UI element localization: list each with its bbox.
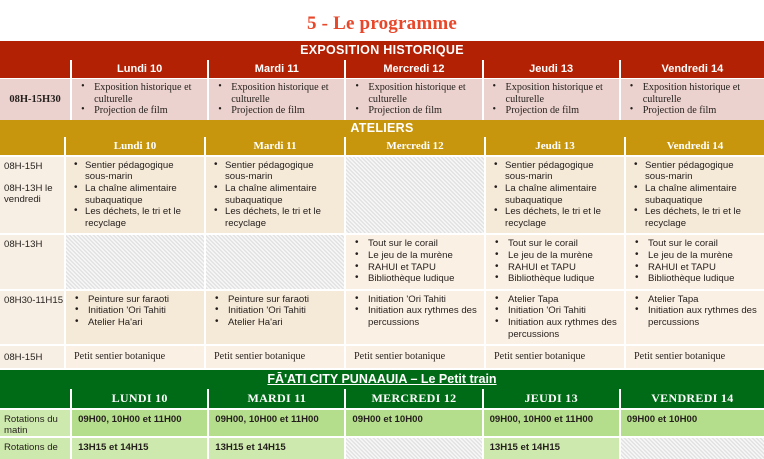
faati-aprem-mardi: 13H15 et 14H15	[208, 437, 345, 459]
list-item: Atelier Ha'ari	[226, 317, 338, 329]
exposition-corner-cell	[0, 60, 71, 79]
list-item: Le jeu de la murène	[646, 250, 758, 262]
ateliers-table: ATELIERS Lundi 10 Mardi 11 Mercredi 12 J…	[0, 120, 764, 370]
exposition-day-vendredi: Vendredi 14	[620, 60, 764, 79]
list-item: Les déchets, le tri et le recyclage	[643, 206, 758, 229]
ateliers-row1-jeudi: Sentier pédagogique sous-marin La chaîne…	[485, 156, 625, 235]
list-item: Sentier pédagogique sous-marin	[503, 160, 618, 183]
list-item: Tout sur le corail	[646, 238, 758, 250]
list-item: Bibliothèque ludique	[646, 273, 758, 285]
ateliers-day-mardi: Mardi 11	[205, 137, 345, 156]
ateliers-row-2: 08H-13H Tout sur le corail Le jeu de la …	[0, 234, 764, 289]
ateliers-row1-time-main: 08H-15H	[4, 161, 42, 172]
list-item: Initiation aux rythmes des percussions	[506, 317, 618, 340]
list-item: Exposition historique et culturelle	[229, 82, 340, 105]
ateliers-corner-cell	[0, 137, 65, 156]
list-item: Le jeu de la murène	[366, 250, 478, 262]
faati-matin-mardi: 09H00, 10H00 et 11H00	[208, 409, 345, 437]
ateliers-row1-vendredi: Sentier pédagogique sous-marin La chaîne…	[625, 156, 764, 235]
list-item: La chaîne alimentaire subaquatique	[223, 183, 338, 206]
faati-day-lundi: LUNDI 10	[71, 389, 208, 409]
exposition-row: 08H-15H30 Exposition historique et cultu…	[0, 79, 764, 120]
list-item: Initiation 'Ori Tahiti	[226, 305, 338, 317]
list-item: Projection de film	[504, 105, 615, 117]
ateliers-row2-mardi-empty	[205, 234, 345, 289]
exposition-time-label: 08H-15H30	[0, 79, 71, 120]
list-item: Atelier Ha'ari	[86, 317, 198, 329]
ateliers-row4-jeudi: Petit sentier botanique	[485, 345, 625, 369]
exposition-cell-mercredi: Exposition historique et culturelle Proj…	[345, 79, 482, 120]
ateliers-row2-lundi-empty	[65, 234, 205, 289]
exposition-table: EXPOSITION HISTORIQUE Lundi 10 Mardi 11 …	[0, 41, 764, 120]
list-item: Projection de film	[229, 105, 340, 117]
faati-row-aprem: Rotations de 13H15 et 14H15 13H15 et 14H…	[0, 437, 764, 459]
ateliers-row4-lundi: Petit sentier botanique	[65, 345, 205, 369]
list-item: RAHUI et TAPU	[646, 262, 758, 274]
list-item: Sentier pédagogique sous-marin	[83, 160, 198, 183]
ateliers-row4-mercredi: Petit sentier botanique	[345, 345, 485, 369]
faati-row-matin-label: Rotations du matin	[0, 409, 71, 437]
faati-matin-mercredi: 09H00 et 10H00	[345, 409, 482, 437]
list-item: Les déchets, le tri et le recyclage	[223, 206, 338, 229]
faati-aprem-lundi: 13H15 et 14H15	[71, 437, 208, 459]
ateliers-header-row: Lundi 10 Mardi 11 Mercredi 12 Jeudi 13 V…	[0, 137, 764, 156]
list-item: Initiation aux rythmes des percussions	[366, 305, 478, 328]
list-item: Tout sur le corail	[506, 238, 618, 250]
list-item: Initiation 'Ori Tahiti	[506, 305, 618, 317]
faati-table: FĀ'ATI CITY PUNAAUIA – Le Petit train LU…	[0, 370, 764, 459]
ateliers-row2-time: 08H-13H	[0, 234, 65, 289]
ateliers-row3-jeudi: Atelier Tapa Initiation 'Ori Tahiti Init…	[485, 290, 625, 345]
faati-day-vendredi: VENDREDI 14	[620, 389, 764, 409]
faati-matin-lundi: 09H00, 10H00 et 11H00	[71, 409, 208, 437]
ateliers-day-mercredi: Mercredi 12	[345, 137, 485, 156]
ateliers-row3-vendredi: Atelier Tapa Initiation aux rythmes des …	[625, 290, 764, 345]
faati-row-matin: Rotations du matin 09H00, 10H00 et 11H00…	[0, 409, 764, 437]
list-item: Projection de film	[92, 105, 203, 117]
ateliers-day-jeudi: Jeudi 13	[485, 137, 625, 156]
list-item: Atelier Tapa	[646, 294, 758, 306]
faati-day-mardi: MARDI 11	[208, 389, 345, 409]
list-item: Les déchets, le tri et le recyclage	[83, 206, 198, 229]
faati-aprem-vendredi-empty	[620, 437, 764, 459]
list-item: Atelier Tapa	[506, 294, 618, 306]
faati-corner-cell	[0, 389, 71, 409]
faati-header-row: LUNDI 10 MARDI 11 MERCREDI 12 JEUDI 13 V…	[0, 389, 764, 409]
list-item: Projection de film	[366, 105, 477, 117]
list-item: Tout sur le corail	[366, 238, 478, 250]
ateliers-row4-mardi: Petit sentier botanique	[205, 345, 345, 369]
list-item: RAHUI et TAPU	[506, 262, 618, 274]
faati-banner-row: FĀ'ATI CITY PUNAAUIA – Le Petit train	[0, 370, 764, 389]
ateliers-row-1: 08H-15H 08H-13H le vendredi Sentier péda…	[0, 156, 764, 235]
page-title: 5 - Le programme	[0, 0, 764, 41]
ateliers-row4-vendredi: Petit sentier botanique	[625, 345, 764, 369]
ateliers-row3-mercredi: Initiation 'Ori Tahiti Initiation aux ry…	[345, 290, 485, 345]
ateliers-banner-row: ATELIERS	[0, 120, 764, 137]
list-item: Exposition historique et culturelle	[504, 82, 615, 105]
exposition-banner: EXPOSITION HISTORIQUE	[0, 41, 764, 60]
exposition-day-lundi: Lundi 10	[71, 60, 208, 79]
ateliers-row-3: 08H30-11H15 Peinture sur faraoti Initiat…	[0, 290, 764, 345]
list-item: Bibliothèque ludique	[506, 273, 618, 285]
list-item: Bibliothèque ludique	[366, 273, 478, 285]
ateliers-row-4: 08H-15H Petit sentier botanique Petit se…	[0, 345, 764, 369]
exposition-banner-row: EXPOSITION HISTORIQUE	[0, 41, 764, 60]
list-item: La chaîne alimentaire subaquatique	[503, 183, 618, 206]
list-item: Initiation aux rythmes des percussions	[646, 305, 758, 328]
faati-banner: FĀ'ATI CITY PUNAAUIA – Le Petit train	[0, 370, 764, 389]
list-item: Peinture sur faraoti	[86, 294, 198, 306]
ateliers-banner: ATELIERS	[0, 120, 764, 137]
list-item: RAHUI et TAPU	[366, 262, 478, 274]
exposition-cell-jeudi: Exposition historique et culturelle Proj…	[483, 79, 620, 120]
list-item: La chaîne alimentaire subaquatique	[643, 183, 758, 206]
list-item: Exposition historique et culturelle	[92, 82, 203, 105]
faati-banner-text: FĀ'ATI CITY PUNAAUIA – Le Petit train	[267, 372, 496, 386]
list-item: Exposition historique et culturelle	[366, 82, 477, 105]
ateliers-day-vendredi: Vendredi 14	[625, 137, 764, 156]
exposition-cell-vendredi: Exposition historique et culturelle Proj…	[620, 79, 764, 120]
ateliers-row1-mercredi-empty	[345, 156, 485, 235]
exposition-cell-mardi: Exposition historique et culturelle Proj…	[208, 79, 345, 120]
list-item: Les déchets, le tri et le recyclage	[503, 206, 618, 229]
list-item: Initiation 'Ori Tahiti	[86, 305, 198, 317]
ateliers-row2-jeudi: Tout sur le corail Le jeu de la murène R…	[485, 234, 625, 289]
programme-page: 5 - Le programme EXPOSITION HISTORIQUE L…	[0, 0, 764, 459]
ateliers-row1-lundi: Sentier pédagogique sous-marin La chaîne…	[65, 156, 205, 235]
ateliers-row3-lundi: Peinture sur faraoti Initiation 'Ori Tah…	[65, 290, 205, 345]
ateliers-row2-mercredi: Tout sur le corail Le jeu de la murène R…	[345, 234, 485, 289]
faati-matin-jeudi: 09H00, 10H00 et 11H00	[483, 409, 620, 437]
list-item: Projection de film	[641, 105, 760, 117]
exposition-cell-lundi: Exposition historique et culturelle Proj…	[71, 79, 208, 120]
ateliers-row4-time: 08H-15H	[0, 345, 65, 369]
ateliers-row1-mardi: Sentier pédagogique sous-marin La chaîne…	[205, 156, 345, 235]
faati-aprem-jeudi: 13H15 et 14H15	[483, 437, 620, 459]
list-item: Le jeu de la murène	[506, 250, 618, 262]
list-item: La chaîne alimentaire subaquatique	[83, 183, 198, 206]
faati-row-aprem-label: Rotations de	[0, 437, 71, 459]
ateliers-row3-time: 08H30-11H15	[0, 290, 65, 345]
faati-day-jeudi: JEUDI 13	[483, 389, 620, 409]
faati-day-mercredi: MERCREDI 12	[345, 389, 482, 409]
faati-aprem-mercredi-empty	[345, 437, 482, 459]
exposition-day-mercredi: Mercredi 12	[345, 60, 482, 79]
exposition-day-mardi: Mardi 11	[208, 60, 345, 79]
ateliers-day-lundi: Lundi 10	[65, 137, 205, 156]
ateliers-row2-vendredi: Tout sur le corail Le jeu de la murène R…	[625, 234, 764, 289]
list-item: Exposition historique et culturelle	[641, 82, 760, 105]
list-item: Peinture sur faraoti	[226, 294, 338, 306]
ateliers-row1-time: 08H-15H 08H-13H le vendredi	[0, 156, 65, 235]
exposition-day-jeudi: Jeudi 13	[483, 60, 620, 79]
ateliers-row3-mardi: Peinture sur faraoti Initiation 'Ori Tah…	[205, 290, 345, 345]
list-item: Sentier pédagogique sous-marin	[223, 160, 338, 183]
list-item: Sentier pédagogique sous-marin	[643, 160, 758, 183]
ateliers-row1-time-sub: 08H-13H le vendredi	[4, 183, 64, 205]
faati-matin-vendredi: 09H00 et 10H00	[620, 409, 764, 437]
exposition-header-row: Lundi 10 Mardi 11 Mercredi 12 Jeudi 13 V…	[0, 60, 764, 79]
list-item: Initiation 'Ori Tahiti	[366, 294, 478, 306]
